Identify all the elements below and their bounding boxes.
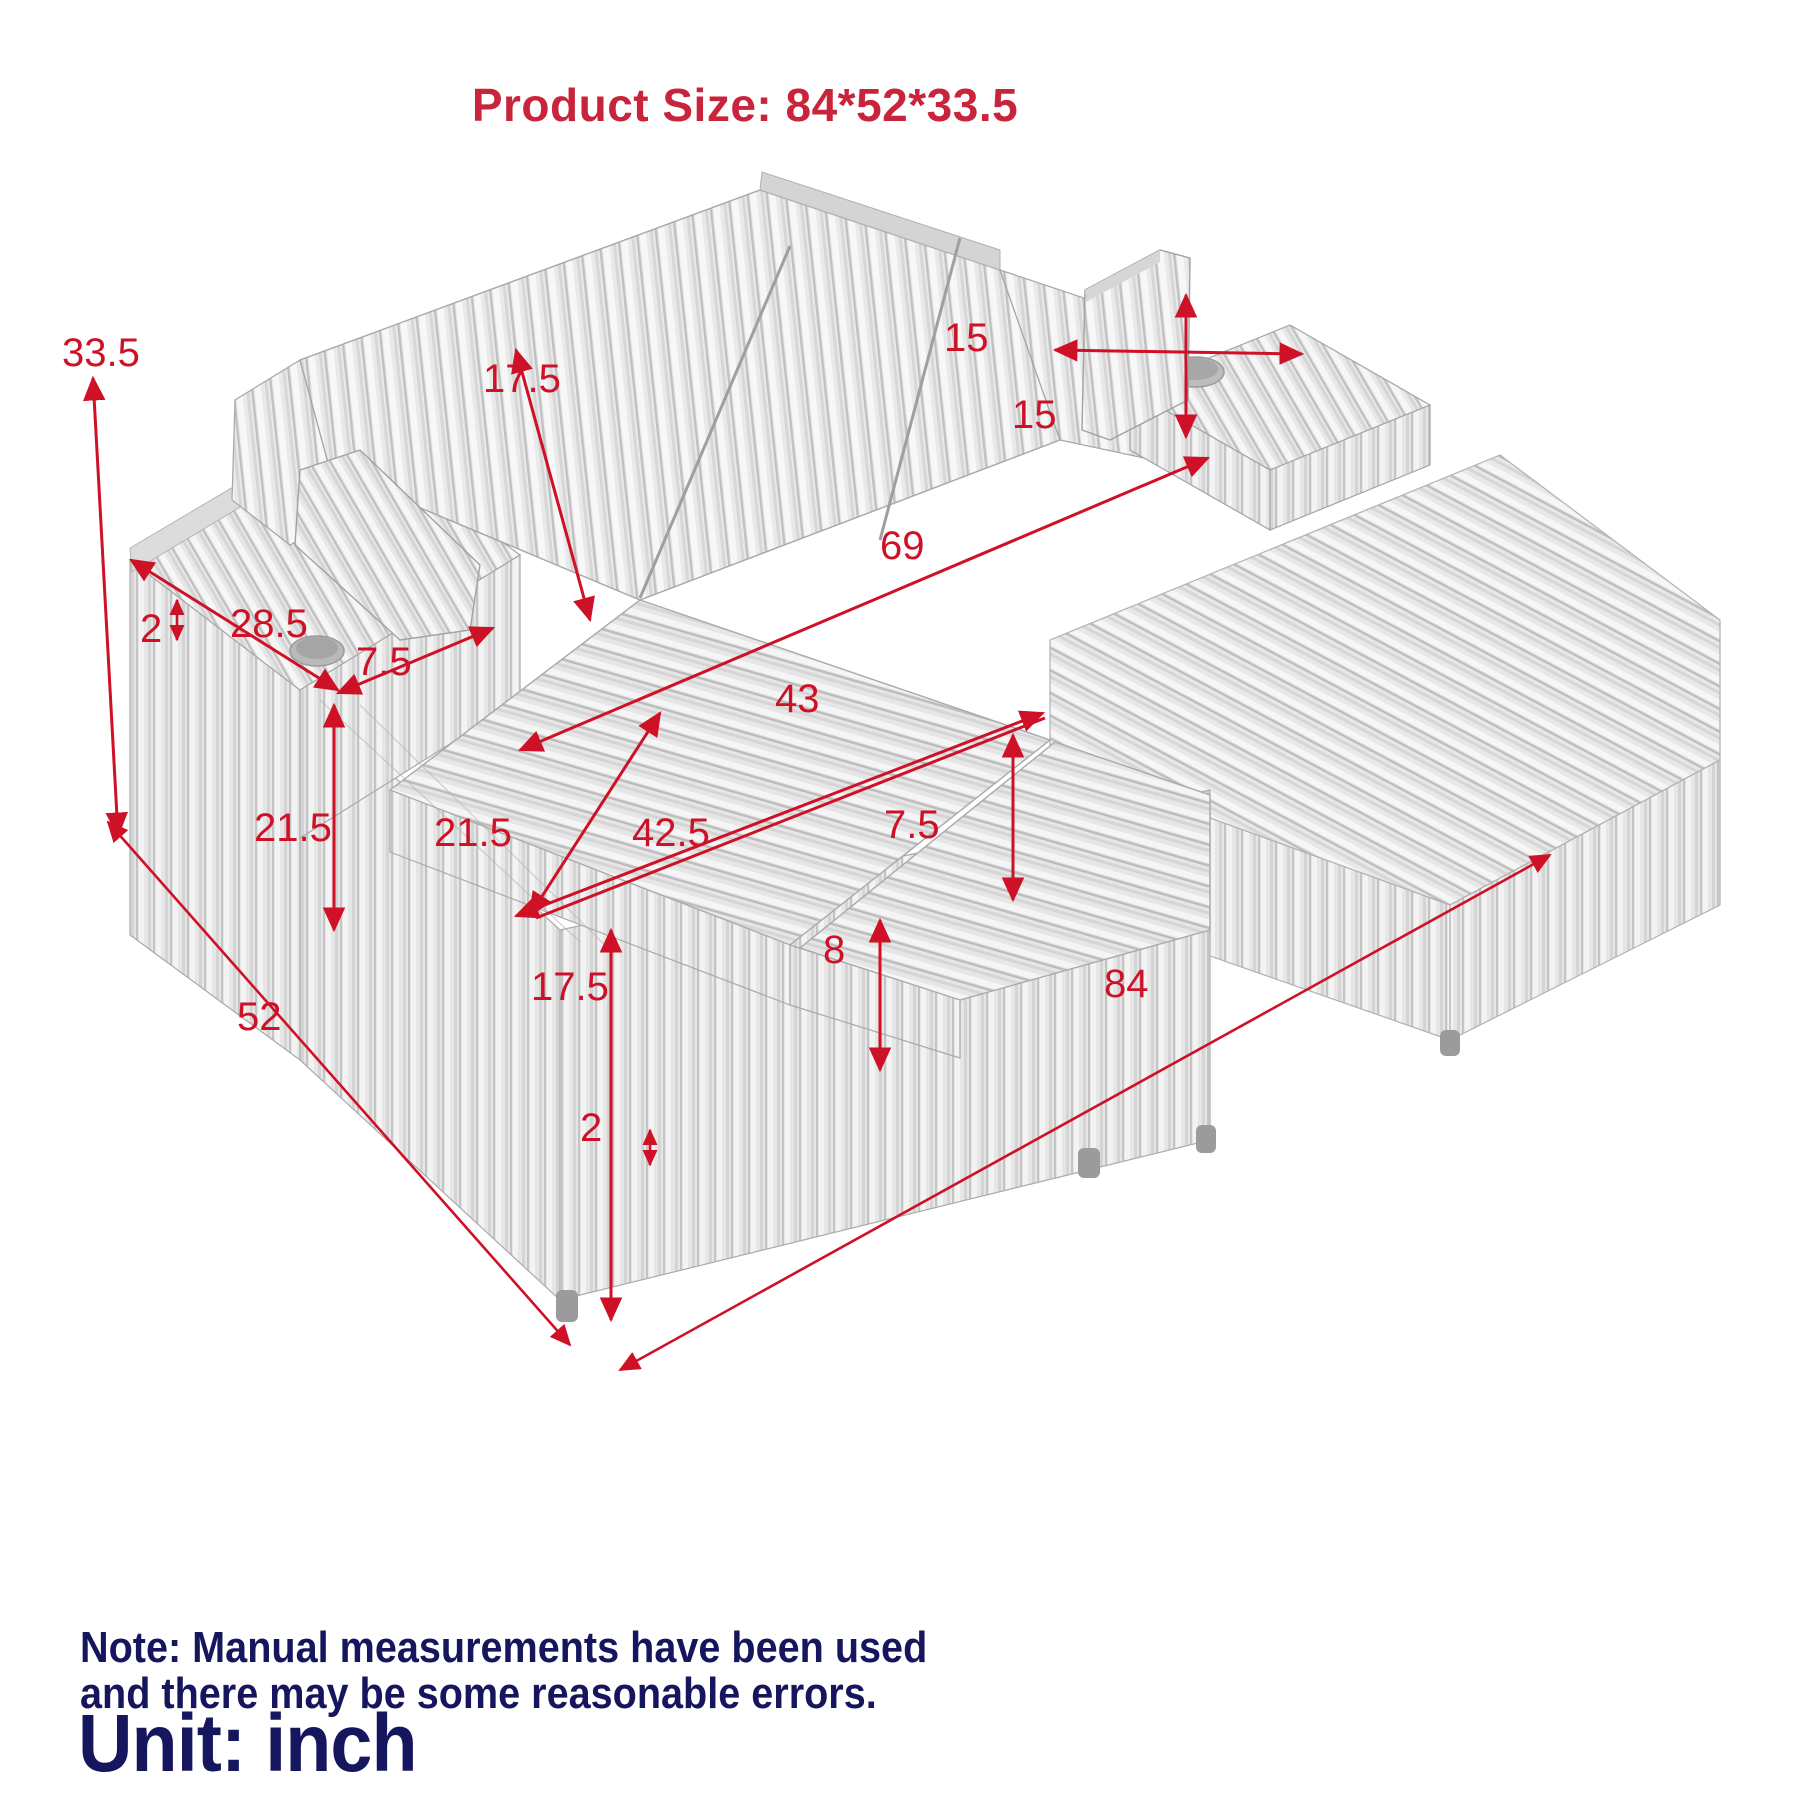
dimension-label-arm-height-21-5: 21.5 <box>254 806 332 850</box>
note-line-2: and there may be some reasonable errors. <box>80 1669 877 1718</box>
dimension-label-cushion-w-21-5: 21.5 <box>434 811 512 855</box>
dim-line-height-33-5 <box>93 378 118 835</box>
dimension-label-depth-52: 52 <box>237 995 282 1039</box>
dimension-label-leg-clear-8: 8 <box>823 928 845 972</box>
product-dimension-diagram: Product Size: 84*52*33.5 <box>0 0 1800 1800</box>
dimension-label-foot-2: 2 <box>580 1106 602 1150</box>
leg-chaise-left <box>1196 1125 1216 1153</box>
leg-chaise-right <box>1440 1030 1460 1056</box>
dimension-label-pillow-w-15: 15 <box>944 316 989 360</box>
note-line-1: Note: Manual measurements have been used <box>80 1623 927 1672</box>
dimension-label-width-84: 84 <box>1104 962 1149 1006</box>
leg-front-left <box>556 1290 578 1322</box>
leg-front-right <box>1078 1148 1100 1178</box>
page-title: Product Size: 84*52*33.5 <box>0 78 1490 132</box>
dimension-label-arm-cap-2: 2 <box>140 607 162 651</box>
dimension-label-height-33-5: 33.5 <box>62 331 140 375</box>
dimension-label-cushion-l-42-5: 42.5 <box>632 811 710 855</box>
dimension-label-arm-top-28-5: 28.5 <box>230 602 308 646</box>
dimension-label-backrest-17-5: 17.5 <box>483 357 561 401</box>
sofa-illustration: 33.517.5151569228.57.54321.521.542.57.51… <box>0 0 1800 1800</box>
sofa-body <box>130 172 1720 1322</box>
measurement-note: Note: Manual measurements have been used… <box>80 1625 927 1717</box>
dimension-label-seat-diag-43: 43 <box>775 677 820 721</box>
dimension-label-chaise-69: 69 <box>880 524 925 568</box>
dimension-label-pillow-h-15: 15 <box>1012 393 1057 437</box>
dimension-label-cushion-t-7-5: 7.5 <box>884 803 940 847</box>
dimension-label-seat-front-17-5: 17.5 <box>531 965 609 1009</box>
dimension-label-arm-width-7-5: 7.5 <box>356 640 412 684</box>
